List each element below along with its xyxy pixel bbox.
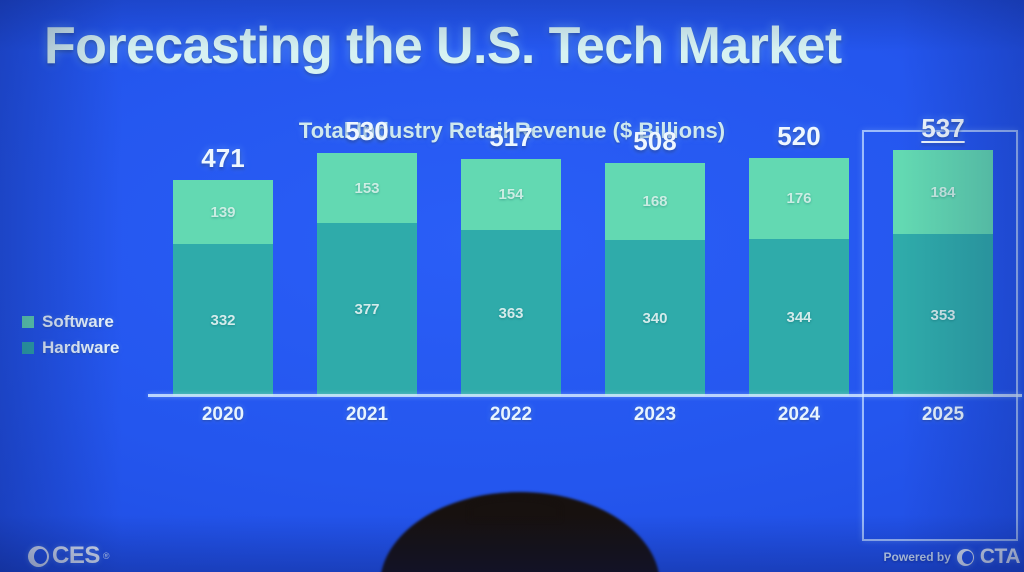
- bar-total-label-2022: 517: [461, 122, 561, 153]
- x-axis-label-2025: 2025: [893, 404, 993, 426]
- bar-segment-hardware-2025: 353: [893, 234, 993, 396]
- bar-total-label-2025: 537: [893, 113, 993, 144]
- bar-group-2021: 530153377: [317, 153, 417, 396]
- bar-segment-software-2020: 139: [173, 180, 273, 244]
- x-axis-label-2020: 2020: [173, 404, 273, 426]
- bar-segment-hardware-2022: 363: [461, 230, 561, 396]
- bar-group-2025: 537184353: [893, 150, 993, 396]
- legend-label-hardware: Hardware: [42, 338, 119, 358]
- cta-mark-icon: [957, 549, 974, 566]
- bar-total-label-2020: 471: [173, 143, 273, 174]
- bar-total-label-2024: 520: [749, 121, 849, 152]
- bar-group-2020: 471139332: [173, 180, 273, 396]
- legend-swatch-software: [22, 316, 34, 328]
- chart-plot-area: 4711393325301533775171543635081683405201…: [148, 150, 1020, 396]
- bar-segment-software-2025: 184: [893, 150, 993, 234]
- ces-mark-icon: [28, 546, 49, 567]
- bar-total-label-2023: 508: [605, 126, 705, 157]
- ces-logo-text: CES: [52, 542, 100, 570]
- slide-title: Forecasting the U.S. Tech Market: [44, 16, 842, 76]
- bar-group-2024: 520176344: [749, 158, 849, 396]
- bar-total-label-2021: 530: [317, 116, 417, 147]
- powered-by-label: Powered by: [884, 550, 951, 564]
- ces-trademark-symbol: ®: [103, 551, 110, 561]
- audience-hair-silhouette: [470, 498, 560, 520]
- bar-segment-hardware-2024: 344: [749, 239, 849, 396]
- bar-segment-software-2021: 153: [317, 153, 417, 223]
- legend-item-software: Software: [22, 312, 119, 332]
- bar-group-2023: 508168340: [605, 163, 705, 396]
- bar-segment-hardware-2023: 340: [605, 240, 705, 396]
- bar-segment-software-2023: 168: [605, 163, 705, 240]
- presentation-slide: Forecasting the U.S. Tech Market Total I…: [0, 0, 1024, 572]
- x-axis-label-2021: 2021: [317, 404, 417, 426]
- legend-item-hardware: Hardware: [22, 338, 119, 358]
- cta-logo: Powered by CTA: [884, 545, 1020, 569]
- bar-segment-software-2024: 176: [749, 158, 849, 239]
- x-axis-label-2023: 2023: [605, 404, 705, 426]
- x-axis-label-2022: 2022: [461, 404, 561, 426]
- x-axis-label-2024: 2024: [749, 404, 849, 426]
- cta-logo-text: CTA: [980, 545, 1020, 569]
- bar-group-2022: 517154363: [461, 159, 561, 396]
- legend-swatch-hardware: [22, 342, 34, 354]
- ces-logo: CES ®: [28, 542, 110, 570]
- x-axis-line: [148, 394, 1022, 397]
- bar-segment-software-2022: 154: [461, 159, 561, 230]
- bar-segment-hardware-2020: 332: [173, 244, 273, 396]
- legend-label-software: Software: [42, 312, 114, 332]
- chart-legend: Software Hardware: [22, 312, 119, 358]
- bar-segment-hardware-2021: 377: [317, 223, 417, 396]
